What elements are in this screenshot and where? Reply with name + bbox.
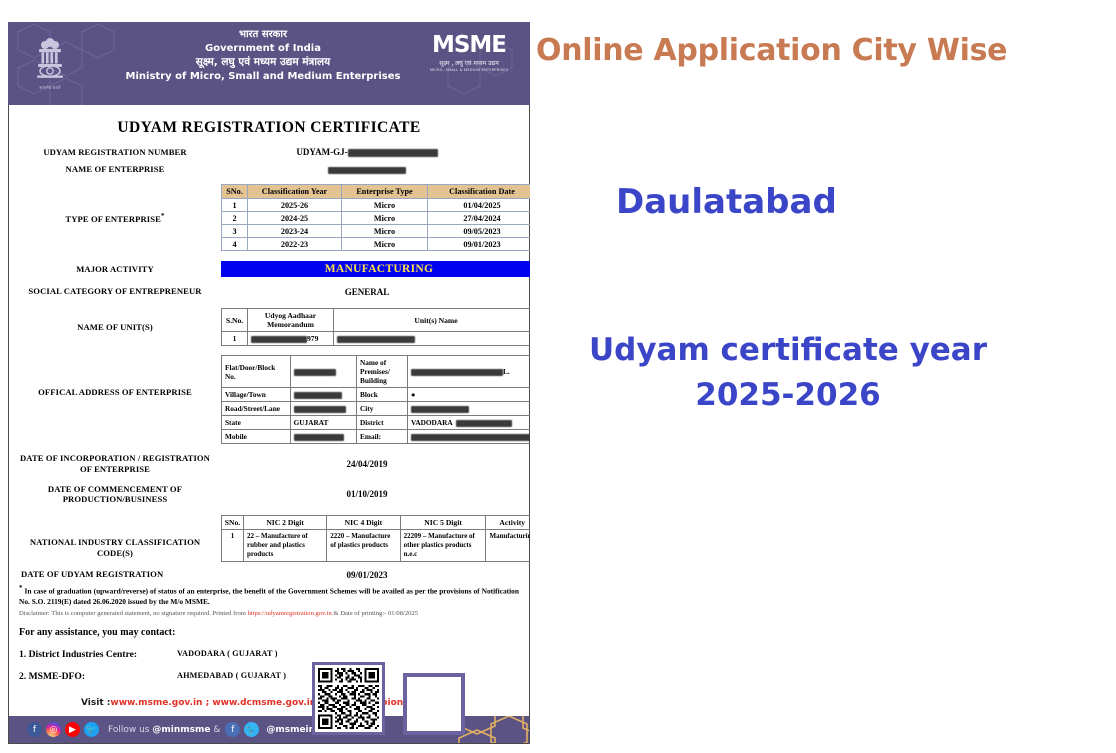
- disclaimer-line: Disclaimer: This is computer generated s…: [17, 610, 521, 619]
- address-table: Flat/Door/Block No. Name of Premises/ Bu…: [221, 355, 539, 444]
- addr-key-village: Village/Town: [222, 388, 291, 402]
- facebook-icon[interactable]: f: [27, 722, 42, 737]
- row-type-of-enterprise: TYPE OF ENTERPRISE* SNo. Classification …: [17, 184, 521, 251]
- row-registration-number: UDYAM REGISTRATION NUMBER UDYAM-GJ-: [17, 147, 521, 158]
- table-row: 4 2022-23 Micro 09/01/2023: [222, 238, 537, 251]
- cell-sno: 3: [222, 225, 248, 238]
- cell-nic5: 22209 – Manufacture of other plastics pr…: [400, 530, 486, 562]
- registration-number-prefix: UDYAM-GJ-: [296, 147, 347, 157]
- msme-logo-english: MICRO, SMALL & MEDIUM ENTERPRISES: [420, 68, 518, 72]
- table-row: 3 2023-24 Micro 09/05/2023: [222, 225, 537, 238]
- assistance-heading: For any assistance, you may contact:: [17, 627, 521, 638]
- date-udyam-registration-value: 09/01/2023: [213, 570, 521, 580]
- addr-val-road: [290, 402, 356, 416]
- footnote-star: *: [19, 584, 23, 592]
- row-nic-codes: NATIONAL INDUSTRY CLASSIFICATION CODE(S)…: [17, 515, 521, 562]
- social-category-value: GENERAL: [213, 287, 521, 297]
- cell-type: Micro: [342, 238, 428, 251]
- col-sno: S.No.: [222, 309, 248, 332]
- date-incorporation-label: DATE OF INCORPORATION / REGISTRATION OF …: [17, 453, 213, 474]
- addr-val-city: [408, 402, 539, 416]
- follow-lead: Follow us: [108, 725, 152, 735]
- addr-key-premises: Name of Premises/ Building: [357, 356, 408, 388]
- nic-table: SNo. NIC 2 Digit NIC 4 Digit NIC 5 Digit…: [221, 515, 539, 562]
- major-activity-label: MAJOR ACTIVITY: [17, 264, 213, 275]
- ministry-english-label: Ministry of Micro, Small and Medium Ente…: [98, 70, 428, 84]
- table-header-row: S.No. Udyog Aadhaar Memorandum Unit(s) N…: [222, 309, 539, 332]
- visit-urls[interactable]: www.msme.gov.in ; www.dcmsme.gov.in ; ww…: [110, 698, 442, 708]
- col-nic2: NIC 2 Digit: [244, 516, 327, 530]
- col-enterprise-type: Enterprise Type: [342, 185, 428, 199]
- cell-sno: 1: [222, 530, 244, 562]
- table-row: 1 979: [222, 332, 539, 346]
- udyam-certificate-document: सत्यमेव जयते भारत सरकार Government of In…: [8, 22, 530, 744]
- row-official-address: OFFICAL ADDRESS OF ENTERPRISE Flat/Door/…: [17, 355, 521, 444]
- visit-lead-label: Visit :: [81, 698, 110, 708]
- date-incorporation-value: 24/04/2019: [213, 459, 521, 469]
- cell-sno: 1: [222, 199, 248, 212]
- addr-val-flat: [290, 356, 356, 388]
- gov-english-label: Government of India: [98, 42, 428, 56]
- date-commencement-value: 01/10/2019: [213, 489, 521, 499]
- cell-date: 01/04/2025: [428, 199, 537, 212]
- row-enterprise-name: NAME OF ENTERPRISE: [17, 164, 521, 175]
- addr-key-state: State: [222, 416, 291, 430]
- col-classification-year: Classification Year: [248, 185, 342, 199]
- addr-key-email: Email:: [357, 430, 408, 444]
- certificate-body: UDYAM REGISTRATION CERTIFICATE UDYAM REG…: [8, 105, 530, 744]
- col-sno: SNo.: [222, 185, 248, 199]
- row-date-udyam-registration: DATE OF UDYAM REGISTRATION 09/01/2023: [17, 569, 521, 580]
- contact-value-dic: VADODARA ( GUJARAT ): [177, 649, 278, 660]
- addr-val-district: VADODARA: [408, 416, 539, 430]
- header-ministry-block: भारत सरकार Government of India सूक्ष्म, …: [98, 28, 428, 84]
- redaction-bar: [294, 434, 344, 441]
- cell-uam-suffix: 979: [307, 334, 318, 343]
- qr-code-icon: [318, 668, 379, 729]
- table-row: 1 2025-26 Micro 01/04/2025: [222, 199, 537, 212]
- redaction-bar: [348, 149, 438, 157]
- msme-logo: MSME सूक्ष्म , लघु एवं मध्यम उद्यम MICRO…: [420, 34, 518, 72]
- table-header-row: SNo. NIC 2 Digit NIC 4 Digit NIC 5 Digit…: [222, 516, 539, 530]
- addr-val-premises: L.: [408, 356, 539, 388]
- panel-city-name: Daulatabad: [616, 182, 837, 222]
- msme-logo-hindi: सूक्ष्म , लघु एवं मध्यम उद्यम: [420, 59, 518, 67]
- table-row: Village/Town Block ●: [222, 388, 539, 402]
- contact-label-dic: 1. District Industries Centre:: [19, 649, 177, 660]
- ministry-hindi-label: सूक्ष्म, लघु एवं मध्यम उद्यम मंत्रालय: [98, 55, 428, 70]
- cell-type: Micro: [342, 225, 428, 238]
- addr-val-village: [290, 388, 356, 402]
- row-date-incorporation: DATE OF INCORPORATION / REGISTRATION OF …: [17, 453, 521, 474]
- addr-key-block: Block: [357, 388, 408, 402]
- cell-year: 2024-25: [248, 212, 342, 225]
- table-row: State GUJARAT District VADODARA: [222, 416, 539, 430]
- follow-us-text: Follow us @minmsme &: [108, 725, 220, 735]
- row-name-of-units: NAME OF UNIT(S) S.No. Udyog Aadhaar Memo…: [17, 308, 521, 346]
- msme-logo-mark: MSME: [420, 34, 518, 57]
- redaction-bar: [328, 167, 406, 174]
- addr-val-block: ●: [408, 388, 539, 402]
- instagram-icon[interactable]: ◎: [46, 722, 61, 737]
- contact-value-dfo: AHMEDABAD ( GUJARAT ): [177, 671, 286, 682]
- name-of-units-label: NAME OF UNIT(S): [17, 308, 213, 333]
- signature-placeholder-box: [403, 673, 465, 735]
- cell-type: Micro: [342, 199, 428, 212]
- contact-label-dfo: 2. MSME-DFO:: [19, 671, 177, 682]
- classification-table-wrap: SNo. Classification Year Enterprise Type…: [213, 184, 537, 251]
- enterprise-name-label: NAME OF ENTERPRISE: [17, 164, 213, 175]
- registration-number-value: UDYAM-GJ-: [213, 147, 521, 157]
- type-of-enterprise-label: TYPE OF ENTERPRISE*: [17, 184, 213, 225]
- redaction-bar: [294, 369, 336, 376]
- cell-date: 09/01/2023: [428, 238, 537, 251]
- right-info-panel: Online Application City Wise Daulatabad …: [530, 0, 1116, 753]
- official-address-label: OFFICAL ADDRESS OF ENTERPRISE: [17, 355, 213, 398]
- col-udyog-aadhaar: Udyog Aadhaar Memorandum: [248, 309, 334, 332]
- date-commencement-label: DATE OF COMMENCEMENT OF PRODUCTION/BUSIN…: [17, 484, 213, 505]
- redaction-bar: [411, 369, 503, 376]
- table-row: Mobile Email:: [222, 430, 539, 444]
- cell-sno: 2: [222, 212, 248, 225]
- redaction-bar: [456, 420, 512, 427]
- panel-title: Online Application City Wise: [536, 34, 1112, 67]
- graduation-footnote: * In case of graduation (upward/reverse)…: [17, 584, 521, 606]
- redaction-bar: [411, 406, 469, 413]
- col-classification-date: Classification Date: [428, 185, 537, 199]
- addr-val-email: [408, 430, 539, 444]
- redaction-bar: [251, 336, 307, 343]
- twitter-icon[interactable]: 🐦: [244, 722, 259, 737]
- enterprise-name-value: [213, 164, 521, 174]
- cell-type: Micro: [342, 212, 428, 225]
- units-table-wrap: S.No. Udyog Aadhaar Memorandum Unit(s) N…: [213, 308, 539, 346]
- table-header-row: SNo. Classification Year Enterprise Type…: [222, 185, 537, 199]
- address-table-wrap: Flat/Door/Block No. Name of Premises/ Bu…: [213, 355, 539, 444]
- page-title: UDYAM REGISTRATION CERTIFICATE: [17, 119, 521, 137]
- col-sno: SNo.: [222, 516, 244, 530]
- col-nic4: NIC 4 Digit: [327, 516, 400, 530]
- cell-date: 27/04/2024: [428, 212, 537, 225]
- addr-key-flat: Flat/Door/Block No.: [222, 356, 291, 388]
- certificate-header-band: सत्यमेव जयते भारत सरकार Government of In…: [8, 22, 530, 105]
- facebook-icon[interactable]: f: [225, 722, 240, 737]
- disclaimer-suffix: & Date of printing:- 01/08/2025: [332, 610, 418, 617]
- contact-row-dic: 1. District Industries Centre: VADODARA …: [17, 649, 521, 660]
- row-social-category: SOCIAL CATEGORY OF ENTREPRENEUR GENERAL: [17, 286, 521, 297]
- row-date-commencement: DATE OF COMMENCEMENT OF PRODUCTION/BUSIN…: [17, 484, 521, 505]
- nic-label: NATIONAL INDUSTRY CLASSIFICATION CODE(S): [17, 515, 213, 558]
- qr-code[interactable]: [312, 662, 385, 735]
- disclaimer-prefix: Disclaimer: This is computer generated s…: [19, 610, 248, 617]
- cell-sno: 4: [222, 238, 248, 251]
- social-category-label: SOCIAL CATEGORY OF ENTREPRENEUR: [17, 286, 213, 297]
- table-row: Road/Street/Lane City: [222, 402, 539, 416]
- classification-table: SNo. Classification Year Enterprise Type…: [221, 184, 537, 251]
- national-emblem-icon: सत्यमेव जयते: [22, 26, 78, 102]
- table-row: 1 22 – Manufacture of rubber and plastic…: [222, 530, 539, 562]
- addr-key-city: City: [357, 402, 408, 416]
- table-row: 2 2024-25 Micro 27/04/2024: [222, 212, 537, 225]
- cell-uam: 979: [248, 332, 334, 346]
- addr-val-mobile: [290, 430, 356, 444]
- date-udyam-registration-label: DATE OF UDYAM REGISTRATION: [17, 569, 213, 580]
- footnote-text: In case of graduation (upward/reverse) o…: [19, 587, 519, 606]
- addr-key-mobile: Mobile: [222, 430, 291, 444]
- major-activity-wrap: MANUFACTURING: [213, 261, 537, 277]
- units-table: S.No. Udyog Aadhaar Memorandum Unit(s) N…: [221, 308, 539, 346]
- addr-val-state: GUJARAT: [290, 416, 356, 430]
- gov-hindi-label: भारत सरकार: [98, 28, 428, 42]
- row-major-activity: MAJOR ACTIVITY MANUFACTURING: [17, 261, 521, 277]
- page-root: सत्यमेव जयते भारत सरकार Government of In…: [0, 0, 1116, 753]
- cell-nic4: 2220 – Manufacture of plastics products: [327, 530, 400, 562]
- follow-handle-minmsme: @minmsme: [152, 725, 210, 735]
- cell-unit-name: [334, 332, 539, 346]
- addr-key-district: District: [357, 416, 408, 430]
- cell-year: 2023-24: [248, 225, 342, 238]
- cell-year: 2022-23: [248, 238, 342, 251]
- col-unit-name: Unit(s) Name: [334, 309, 539, 332]
- table-row: Flat/Door/Block No. Name of Premises/ Bu…: [222, 356, 539, 388]
- follow-amp: &: [210, 725, 220, 735]
- disclaimer-link[interactable]: https://udyamregistration.gov.in: [248, 610, 332, 617]
- redaction-bar: [294, 392, 342, 399]
- addr-key-road: Road/Street/Lane: [222, 402, 291, 416]
- cell-year: 2025-26: [248, 199, 342, 212]
- footnote-marker: *: [161, 212, 165, 220]
- cell-nic2: 22 – Manufacture of rubber and plastics …: [244, 530, 327, 562]
- emblem-caption: सत्यमेव जयते: [39, 85, 60, 91]
- redaction-bar: [294, 406, 346, 413]
- cell-sno: 1: [222, 332, 248, 346]
- youtube-icon[interactable]: ▶: [65, 722, 80, 737]
- panel-subtitle: Udyam certificate year 2025-2026: [588, 328, 988, 418]
- major-activity-banner: MANUFACTURING: [221, 261, 537, 277]
- col-nic5: NIC 5 Digit: [400, 516, 486, 530]
- registration-number-label: UDYAM REGISTRATION NUMBER: [17, 147, 213, 158]
- cell-date: 09/05/2023: [428, 225, 537, 238]
- nic-table-wrap: SNo. NIC 2 Digit NIC 4 Digit NIC 5 Digit…: [213, 515, 539, 562]
- twitter-icon[interactable]: 🐦: [84, 722, 99, 737]
- ashoka-emblem-icon: [32, 38, 68, 84]
- redaction-bar: [337, 336, 415, 343]
- redaction-bar: [411, 434, 535, 441]
